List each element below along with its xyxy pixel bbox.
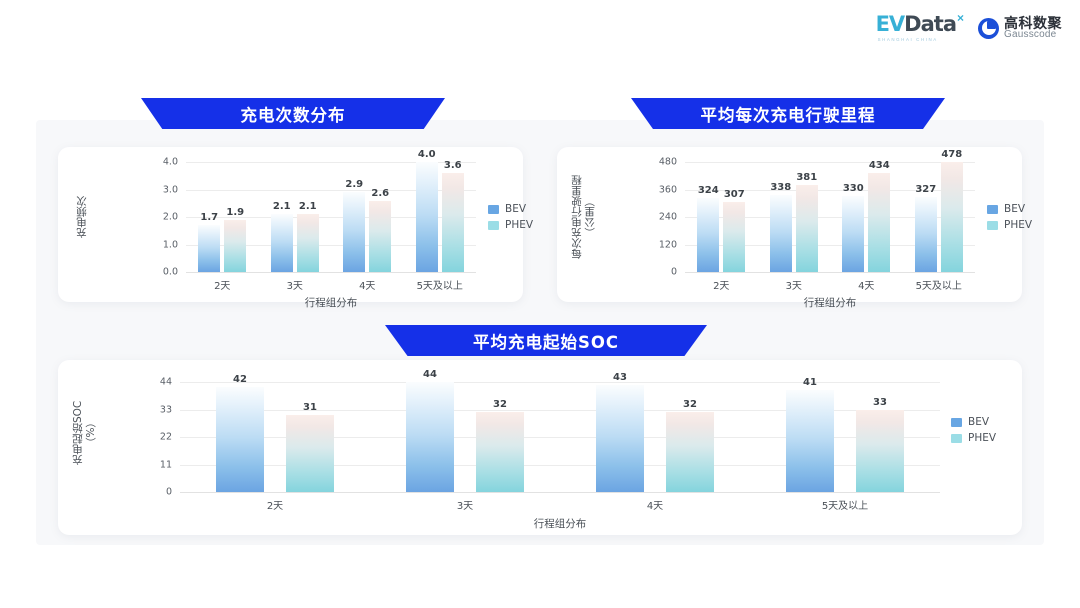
bar-group: 4.03.6 bbox=[404, 162, 477, 272]
x-tick-label: 5天及以上 bbox=[903, 277, 976, 292]
y-tick-label: 360 bbox=[659, 184, 677, 195]
bar-bev[interactable]: 43 bbox=[596, 385, 644, 493]
y-tick-label: 0 bbox=[671, 267, 677, 278]
bar-value-label: 381 bbox=[796, 172, 817, 183]
bar-value-label: 324 bbox=[698, 185, 719, 196]
bar-value-label: 2.9 bbox=[345, 179, 363, 190]
chart-title-banner-3: 平均充电起始SOC bbox=[385, 325, 707, 356]
evdata-wordmark: EVData bbox=[876, 14, 956, 35]
gausscode-chinese-name: 高科数聚 bbox=[1004, 16, 1062, 30]
x-axis-labels: 2天3天4天5天及以上 bbox=[180, 497, 940, 512]
bar-groups: 4231443243324133 bbox=[180, 382, 940, 492]
x-tick-label: 3天 bbox=[370, 497, 560, 512]
bar-value-label: 434 bbox=[869, 160, 890, 171]
bar-groups: 324307338381330434327478 bbox=[685, 162, 975, 272]
y-tick-label: 4.0 bbox=[163, 157, 178, 168]
chart-2: 每次充电行驶里程 （公里）012024036048032430733838133… bbox=[557, 147, 1022, 302]
bar-phev[interactable]: 2.6 bbox=[369, 201, 391, 273]
bar-phev[interactable]: 32 bbox=[476, 412, 524, 492]
y-tick-label: 22 bbox=[160, 432, 172, 443]
bar-phev[interactable]: 3.6 bbox=[442, 173, 464, 272]
bar-phev[interactable]: 2.1 bbox=[297, 214, 319, 272]
gausscode-logo: 高科数聚 Gausscode bbox=[978, 16, 1062, 40]
evdata-data-text: Data bbox=[904, 12, 956, 36]
chart-title-banner-2: 平均每次充电行驶里程 bbox=[631, 98, 945, 129]
bar-group: 324307 bbox=[685, 162, 758, 272]
x-tick-label: 4天 bbox=[331, 277, 404, 292]
legend-label-bev: BEV bbox=[968, 416, 989, 428]
x-tick-label: 2天 bbox=[186, 277, 259, 292]
legend-label-bev: BEV bbox=[1004, 203, 1025, 215]
bar-value-label: 478 bbox=[941, 149, 962, 160]
y-axis-ticks: 0.01.02.03.04.0 bbox=[116, 162, 178, 272]
bar-group: 4133 bbox=[750, 382, 940, 492]
x-axis-title: 行程组分布 bbox=[186, 295, 476, 310]
bar-phev[interactable]: 32 bbox=[666, 412, 714, 492]
x-tick-label: 2天 bbox=[685, 277, 758, 292]
bar-value-label: 307 bbox=[724, 189, 745, 200]
x-tick-label: 3天 bbox=[259, 277, 332, 292]
chart-legend: BEVPHEV bbox=[987, 203, 1032, 231]
bar-phev[interactable]: 307 bbox=[723, 202, 745, 272]
plot-area: 324307338381330434327478 bbox=[685, 162, 975, 272]
evdata-ev-text: EV bbox=[876, 12, 905, 36]
y-tick-label: 11 bbox=[160, 459, 172, 470]
y-tick-label: 0.0 bbox=[163, 267, 178, 278]
x-tick-label: 3天 bbox=[758, 277, 831, 292]
bar-groups: 1.71.92.12.12.92.64.03.6 bbox=[186, 162, 476, 272]
bar-value-label: 327 bbox=[915, 184, 936, 195]
gridline bbox=[685, 272, 975, 273]
legend-label-phev: PHEV bbox=[505, 219, 533, 231]
x-tick-label: 4天 bbox=[830, 277, 903, 292]
gridline bbox=[186, 272, 476, 273]
x-tick-label: 4天 bbox=[560, 497, 750, 512]
bar-group: 2.92.6 bbox=[331, 162, 404, 272]
y-tick-label: 33 bbox=[160, 404, 172, 415]
bar-value-label: 1.7 bbox=[200, 212, 218, 223]
legend-swatch-bev bbox=[951, 418, 962, 427]
bar-phev[interactable]: 33 bbox=[856, 410, 904, 493]
bar-bev[interactable]: 42 bbox=[216, 387, 264, 492]
chart-legend: BEVPHEV bbox=[951, 416, 996, 444]
legend-item-bev[interactable]: BEV bbox=[488, 203, 533, 215]
legend-swatch-phev bbox=[987, 221, 998, 230]
y-tick-label: 3.0 bbox=[163, 184, 178, 195]
y-tick-label: 240 bbox=[659, 212, 677, 223]
y-axis-label: 每次充电行驶里程 （公里） bbox=[571, 159, 597, 275]
bar-group: 338381 bbox=[758, 162, 831, 272]
bar-value-label: 41 bbox=[803, 377, 817, 388]
bar-group: 4432 bbox=[370, 382, 560, 492]
y-tick-label: 44 bbox=[160, 377, 172, 388]
x-axis-title: 行程组分布 bbox=[180, 516, 940, 531]
chart-title-banner-1: 充电次数分布 bbox=[141, 98, 445, 129]
bar-bev[interactable]: 2.1 bbox=[271, 214, 293, 272]
gausscode-mark-icon bbox=[978, 18, 999, 39]
bar-bev[interactable]: 338 bbox=[770, 195, 792, 272]
bar-value-label: 3.6 bbox=[444, 160, 462, 171]
legend-label-phev: PHEV bbox=[1004, 219, 1032, 231]
legend-item-bev[interactable]: BEV bbox=[987, 203, 1032, 215]
chart-card-charging-frequency: 充电频次0.01.02.03.04.01.71.92.12.12.92.64.0… bbox=[58, 147, 523, 302]
plot-area: 4231443243324133 bbox=[180, 382, 940, 492]
bar-bev[interactable]: 41 bbox=[786, 390, 834, 493]
gridline bbox=[180, 492, 940, 493]
y-axis-label: 充电频次 bbox=[74, 169, 89, 265]
bar-phev[interactable]: 434 bbox=[868, 173, 890, 272]
x-axis-labels: 2天3天4天5天及以上 bbox=[186, 277, 476, 292]
bar-group: 4231 bbox=[180, 382, 370, 492]
bar-bev[interactable]: 2.9 bbox=[343, 192, 365, 272]
y-tick-label: 480 bbox=[659, 157, 677, 168]
bar-value-label: 33 bbox=[873, 397, 887, 408]
y-tick-label: 0 bbox=[166, 487, 172, 498]
y-axis-ticks: 011223344 bbox=[110, 382, 172, 492]
bar-bev[interactable]: 324 bbox=[697, 198, 719, 272]
bar-value-label: 42 bbox=[233, 374, 247, 385]
bar-value-label: 4.0 bbox=[418, 149, 436, 160]
bar-group: 2.12.1 bbox=[259, 162, 332, 272]
bar-phev[interactable]: 478 bbox=[941, 162, 963, 272]
legend-item-phev[interactable]: PHEV bbox=[951, 432, 996, 444]
bar-value-label: 43 bbox=[613, 372, 627, 383]
legend-item-phev[interactable]: PHEV bbox=[488, 219, 533, 231]
bar-bev[interactable]: 330 bbox=[842, 196, 864, 272]
legend-item-bev[interactable]: BEV bbox=[951, 416, 996, 428]
bar-phev[interactable]: 31 bbox=[286, 415, 334, 493]
header-logos: EVData × SHANGHAI CHINA 高科数聚 Gausscode bbox=[876, 14, 1062, 42]
evdata-logo: EVData × SHANGHAI CHINA bbox=[876, 14, 964, 42]
bar-bev[interactable]: 4.0 bbox=[416, 162, 438, 272]
bar-group: 330434 bbox=[830, 162, 903, 272]
bar-value-label: 330 bbox=[843, 183, 864, 194]
bar-value-label: 1.9 bbox=[226, 207, 244, 218]
bar-bev[interactable]: 327 bbox=[915, 197, 937, 272]
evdata-x-icon: × bbox=[957, 12, 964, 24]
gausscode-english-name: Gausscode bbox=[1004, 30, 1062, 40]
chart-3: 充电起始SOC （%）01122334442314432433241332天3天… bbox=[58, 360, 1022, 535]
legend-swatch-phev bbox=[488, 221, 499, 230]
bar-group: 4332 bbox=[560, 382, 750, 492]
y-tick-label: 120 bbox=[659, 239, 677, 250]
bar-value-label: 32 bbox=[493, 399, 507, 410]
chart-card-start-soc: 充电起始SOC （%）01122334442314432433241332天3天… bbox=[58, 360, 1022, 535]
legend-item-phev[interactable]: PHEV bbox=[987, 219, 1032, 231]
legend-swatch-bev bbox=[488, 205, 499, 214]
chart-legend: BEVPHEV bbox=[488, 203, 533, 231]
x-tick-label: 2天 bbox=[180, 497, 370, 512]
evdata-tagline: SHANGHAI CHINA bbox=[878, 38, 938, 42]
y-axis-ticks: 0120240360480 bbox=[609, 162, 677, 272]
y-tick-label: 2.0 bbox=[163, 212, 178, 223]
legend-label-bev: BEV bbox=[505, 203, 526, 215]
legend-swatch-phev bbox=[951, 434, 962, 443]
y-axis-label: 充电起始SOC （%） bbox=[72, 378, 98, 488]
bar-phev[interactable]: 381 bbox=[796, 185, 818, 272]
bar-group: 327478 bbox=[903, 162, 976, 272]
bar-group: 1.71.9 bbox=[186, 162, 259, 272]
chart-card-avg-mileage: 每次充电行驶里程 （公里）012024036048032430733838133… bbox=[557, 147, 1022, 302]
chart-1: 充电频次0.01.02.03.04.01.71.92.12.12.92.64.0… bbox=[58, 147, 523, 302]
x-axis-labels: 2天3天4天5天及以上 bbox=[685, 277, 975, 292]
bar-value-label: 32 bbox=[683, 399, 697, 410]
bar-value-label: 31 bbox=[303, 402, 317, 413]
bar-value-label: 338 bbox=[770, 182, 791, 193]
bar-phev[interactable]: 1.9 bbox=[224, 220, 246, 272]
bar-value-label: 2.1 bbox=[273, 201, 291, 212]
bar-bev[interactable]: 44 bbox=[406, 382, 454, 492]
x-tick-label: 5天及以上 bbox=[404, 277, 477, 292]
legend-label-phev: PHEV bbox=[968, 432, 996, 444]
bar-value-label: 2.6 bbox=[371, 188, 389, 199]
x-tick-label: 5天及以上 bbox=[750, 497, 940, 512]
legend-swatch-bev bbox=[987, 205, 998, 214]
y-tick-label: 1.0 bbox=[163, 239, 178, 250]
bar-value-label: 2.1 bbox=[299, 201, 317, 212]
plot-area: 1.71.92.12.12.92.64.03.6 bbox=[186, 162, 476, 272]
bar-value-label: 44 bbox=[423, 369, 437, 380]
x-axis-title: 行程组分布 bbox=[685, 295, 975, 310]
bar-bev[interactable]: 1.7 bbox=[198, 225, 220, 272]
